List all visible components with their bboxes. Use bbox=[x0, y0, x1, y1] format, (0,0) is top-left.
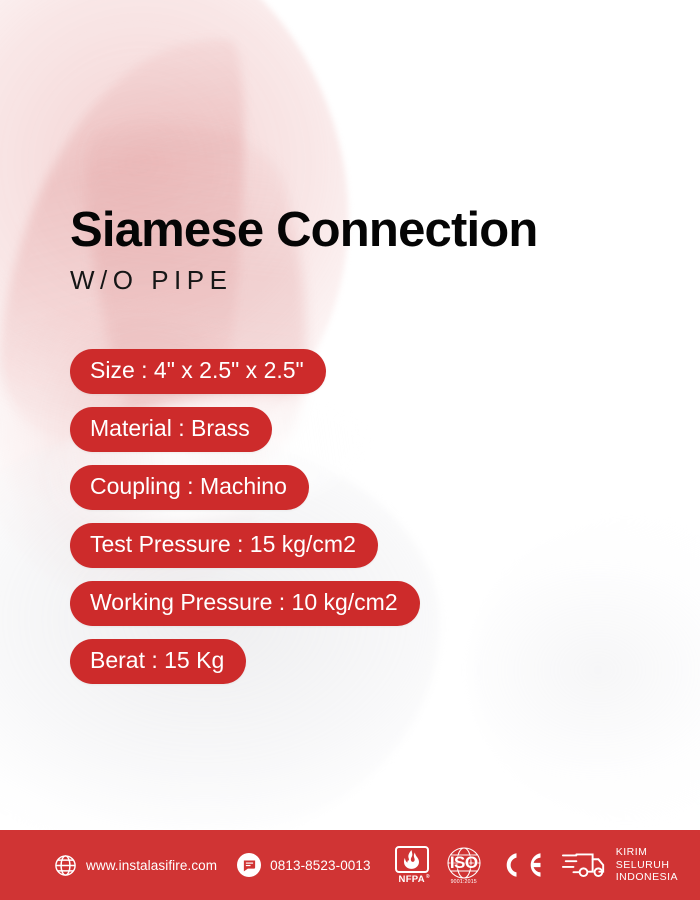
spec-pill-test-pressure: Test Pressure : 15 kg/cm2 bbox=[70, 523, 378, 568]
shipping-line-1: KIRIM bbox=[616, 846, 648, 858]
website-contact[interactable]: www.instalasifire.com bbox=[54, 854, 217, 877]
nfpa-label: NFPA® bbox=[399, 874, 425, 885]
globe-grid-icon: ISO bbox=[445, 846, 483, 880]
footer-bar: www.instalasifire.com 0813-8523-0013 bbox=[0, 830, 700, 900]
shipping-line-3: INDONESIA bbox=[616, 871, 678, 883]
iso-badge: ISO 9001:2015 bbox=[443, 846, 485, 885]
ce-mark-icon bbox=[498, 850, 548, 880]
nfpa-badge: NFPA® bbox=[394, 846, 430, 885]
product-spec-poster: Siamese Connection W/O PIPE Size : 4" x … bbox=[0, 0, 700, 900]
whatsapp-chat-icon bbox=[237, 853, 261, 877]
shipping-label: KIRIM SELURUH INDONESIA bbox=[616, 846, 678, 884]
flame-icon bbox=[395, 846, 429, 873]
spec-pill-coupling: Coupling : Machino bbox=[70, 465, 309, 510]
page-subtitle: W/O PIPE bbox=[70, 267, 538, 293]
iso-label: ISO bbox=[450, 853, 478, 873]
spec-pill-size: Size : 4" x 2.5" x 2.5" bbox=[70, 349, 326, 394]
phone-text: 0813-8523-0013 bbox=[270, 858, 371, 873]
website-text: www.instalasifire.com bbox=[86, 858, 217, 873]
shipping-badge: KIRIM SELURUH INDONESIA bbox=[561, 846, 678, 884]
certification-badges: NFPA® ISO 9001:2015 bbox=[394, 846, 678, 885]
delivery-truck-icon bbox=[561, 850, 607, 880]
globe-icon bbox=[54, 854, 77, 877]
spec-pill-berat: Berat : 15 Kg bbox=[70, 639, 246, 684]
phone-contact[interactable]: 0813-8523-0013 bbox=[237, 853, 371, 877]
right-faint-blob-watermark bbox=[470, 520, 700, 820]
spec-list: Size : 4" x 2.5" x 2.5" Material : Brass… bbox=[70, 349, 420, 684]
page-title: Siamese Connection bbox=[70, 206, 538, 255]
spec-pill-material: Material : Brass bbox=[70, 407, 272, 452]
spec-pill-working-pressure: Working Pressure : 10 kg/cm2 bbox=[70, 581, 420, 626]
shipping-line-2: SELURUH bbox=[616, 859, 670, 871]
product-heading-block: Siamese Connection W/O PIPE bbox=[70, 206, 538, 293]
